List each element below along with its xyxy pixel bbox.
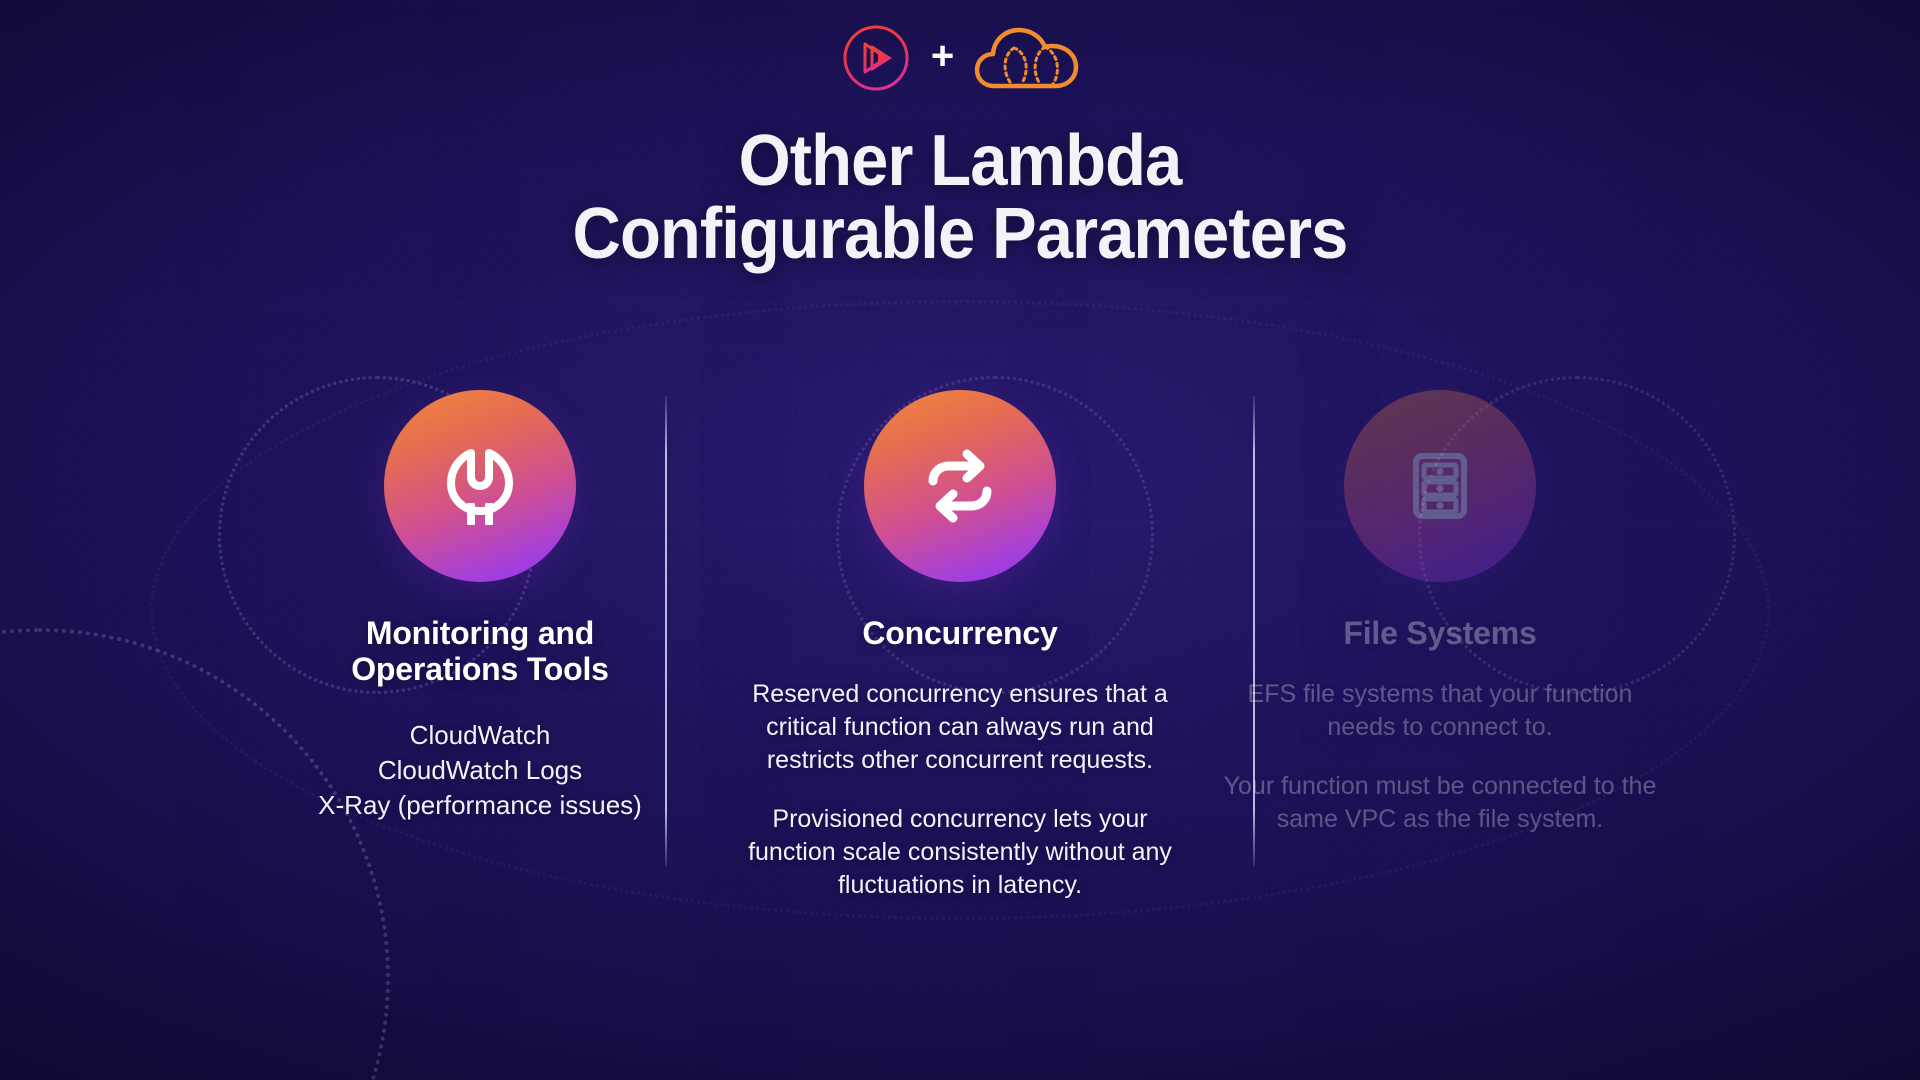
column-monitoring-icon-circle (384, 390, 576, 582)
slide-root: + Other Lambda Configurable Parameters (0, 0, 1920, 1080)
column-monitoring-list: CloudWatch CloudWatch Logs X-Ray (perfor… (318, 718, 642, 823)
wrench-icon (437, 443, 523, 529)
column-concurrency-paragraph-1: Reserved concurrency ensures that a crit… (740, 678, 1180, 777)
column-file-systems-icon-circle (1344, 390, 1536, 582)
column-concurrency: Concurrency Reserved concurrency ensures… (720, 390, 1200, 902)
column-monitoring-title-line-2: Operations Tools (351, 651, 609, 687)
list-item: CloudWatch (318, 718, 642, 753)
logo-row: + (0, 22, 1920, 94)
plus-symbol: + (931, 36, 954, 76)
columns-container: Monitoring and Operations Tools CloudWat… (0, 390, 1920, 902)
column-monitoring: Monitoring and Operations Tools CloudWat… (240, 390, 720, 823)
aws-cloud-logo-icon (974, 22, 1079, 94)
repeat-arrows-icon (917, 443, 1003, 529)
column-concurrency-icon-circle (864, 390, 1056, 582)
column-file-systems-paragraph-2: Your function must be connected to the s… (1220, 770, 1660, 836)
page-title: Other Lambda Configurable Parameters (67, 125, 1853, 272)
column-monitoring-title: Monitoring and Operations Tools (351, 616, 609, 688)
page-title-line-1: Other Lambda (67, 125, 1853, 198)
play-triangle-logo-icon (841, 23, 911, 93)
server-rack-icon (1397, 443, 1483, 529)
column-concurrency-paragraph-2: Provisioned concurrency lets your functi… (740, 803, 1180, 902)
list-item: CloudWatch Logs (318, 753, 642, 788)
column-file-systems: File Systems EFS file systems that your … (1200, 390, 1680, 836)
page-title-line-2: Configurable Parameters (67, 198, 1853, 271)
column-file-systems-title: File Systems (1343, 616, 1536, 652)
column-file-systems-paragraph-1: EFS file systems that your function need… (1220, 678, 1660, 744)
column-concurrency-title: Concurrency (862, 616, 1057, 652)
column-monitoring-title-line-1: Monitoring and (366, 615, 594, 651)
list-item: X-Ray (performance issues) (318, 788, 642, 823)
